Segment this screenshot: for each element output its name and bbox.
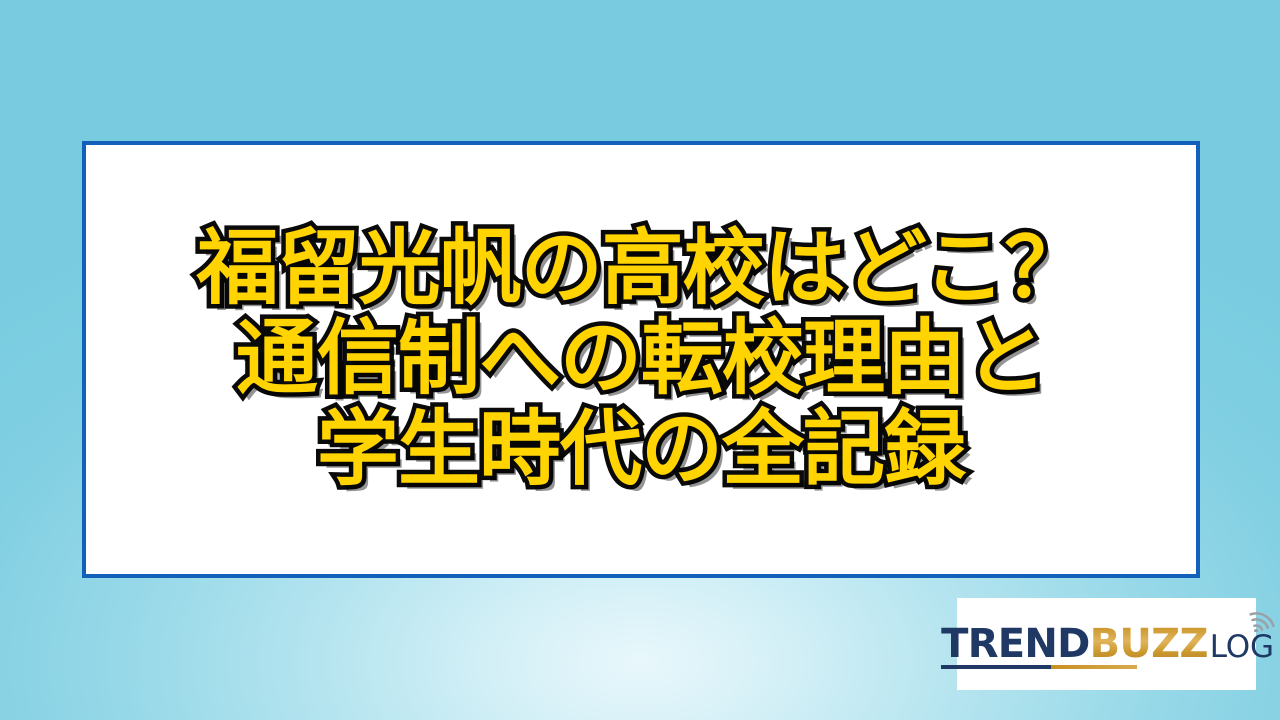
wifi-signal-icon [1248, 602, 1280, 632]
title-line-3: 学生時代の全記録 [317, 405, 965, 495]
brand-underline-rule [941, 665, 1137, 669]
brand-logo-inner: TREND BUZZ LOG [935, 624, 1278, 664]
brand-logo-badge[interactable]: TREND BUZZ LOG [957, 598, 1256, 690]
title-text-block: 福留光帆の高校はどこ？ 通信制への転校理由と 学生時代の全記録 [86, 224, 1196, 495]
brand-word-trend: TREND [941, 624, 1090, 664]
title-line-2: 通信制への転校理由と [236, 314, 1046, 404]
brand-word-buzz: BUZZ [1090, 624, 1208, 664]
title-card: 福留光帆の高校はどこ？ 通信制への転校理由と 学生時代の全記録 [82, 141, 1200, 578]
title-line-1: 福留光帆の高校はどこ？ [197, 224, 1086, 314]
brand-underline-navy-segment [941, 665, 1051, 669]
thumbnail-canvas: 福留光帆の高校はどこ？ 通信制への転校理由と 学生時代の全記録 TREND BU… [0, 0, 1280, 720]
brand-wordmark: TREND BUZZ LOG [941, 624, 1274, 664]
brand-underline-gold-segment [1051, 665, 1137, 669]
brand-word-log: LOG [1210, 632, 1274, 663]
